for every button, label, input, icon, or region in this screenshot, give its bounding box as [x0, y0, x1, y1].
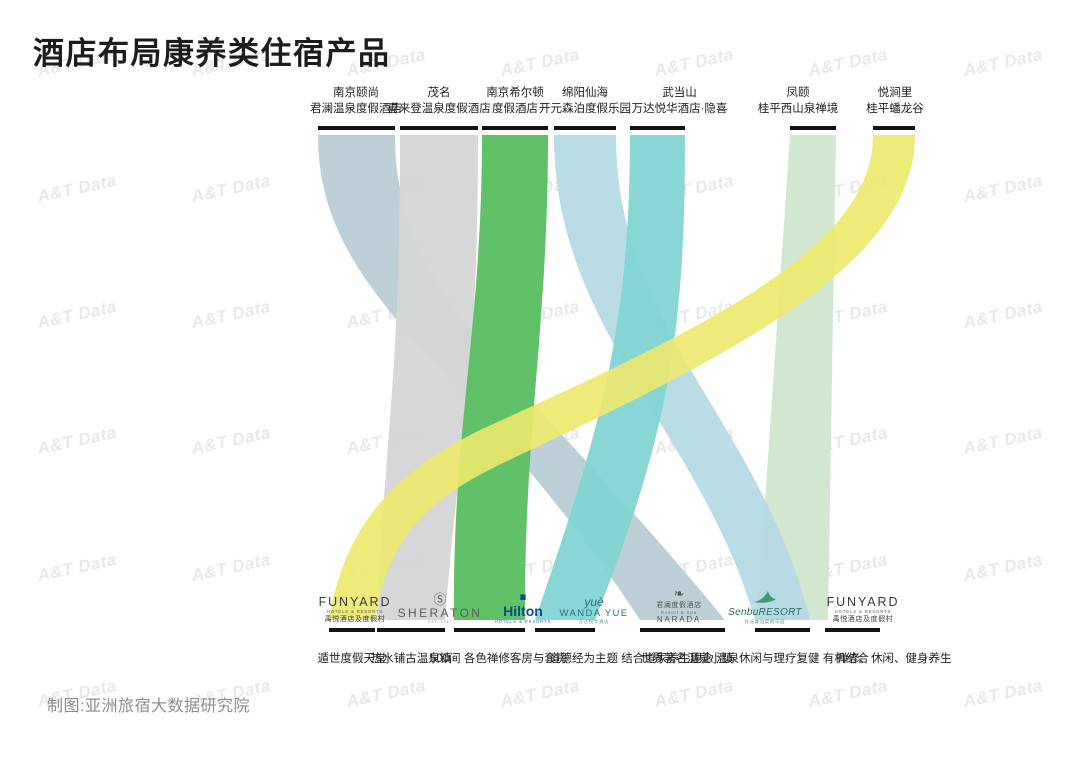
logo-senbu-resort: SenbuRESORT 开元森泊度假乐园 — [724, 578, 806, 624]
logo-name: Hilton — [503, 604, 543, 619]
logo-subtitle: HOTELS & RESORTS — [835, 609, 891, 614]
narada-leaf-icon: ❧ — [674, 587, 685, 600]
top-node-bar[interactable] — [873, 126, 915, 130]
top-node-bar[interactable] — [482, 126, 548, 130]
top-node-bar[interactable] — [318, 126, 395, 130]
top-node-property: 万达悦华酒店·隐喜 — [612, 102, 747, 118]
top-node-brand: 悦涧里 — [850, 86, 940, 102]
logo-name: FUNYARD — [827, 596, 900, 609]
credit-line: 制图:亚洲旅宿大数据研究院 — [47, 692, 250, 716]
logo-subtitle: 开元森泊度假乐园 — [745, 619, 786, 624]
top-node-bar[interactable] — [630, 126, 685, 130]
bottom-node-bar[interactable] — [535, 628, 595, 632]
logo-subtitle: HOTELS & RESORTS — [495, 619, 551, 624]
top-node-label-6[interactable]: 凤颐 桂平西山泉禅境 — [748, 86, 848, 117]
logo-sheraton: Ⓢ SHERATON EST. 1937 — [394, 578, 486, 624]
bottom-node-bar[interactable] — [825, 628, 880, 632]
bottom-node-bar[interactable] — [755, 628, 810, 632]
logo-chinese-name: 禹悦酒店及度假村 — [325, 615, 386, 624]
logo-established: EST. 1937 — [428, 620, 452, 624]
sheraton-s-icon: Ⓢ — [433, 593, 446, 606]
logo-wanda-yue: yuè WANDA YUE 万达悦华酒店 — [556, 578, 632, 624]
bottom-feature-line1: 500间 — [430, 653, 461, 665]
logo-name: SHERATON — [398, 607, 483, 620]
logo-name: WANDA YUE — [559, 609, 628, 619]
page-title: 酒店布局康养类住宿产品 — [33, 28, 391, 73]
logo-name: NARADA — [657, 616, 701, 624]
bottom-node-bar[interactable] — [640, 628, 725, 632]
top-node-label-5[interactable]: 武当山 万达悦华酒店·隐喜 — [612, 86, 747, 117]
senbu-bird-glyph — [752, 589, 778, 605]
logo-name: FUNYARD — [319, 596, 392, 609]
top-node-bar[interactable] — [554, 126, 616, 130]
bottom-node-label-7[interactable]: 禅修、休闲、健身养生 — [824, 652, 964, 668]
top-node-brand: 武当山 — [612, 86, 747, 102]
logo-chinese-name: 禹悦酒店及度假村 — [833, 615, 894, 624]
yue-script-icon: yuè — [584, 595, 603, 609]
bottom-feature-line1: 道德经为主题 — [549, 653, 618, 665]
top-node-bar[interactable] — [790, 126, 836, 130]
bottom-node-bar[interactable] — [454, 628, 525, 632]
bottom-node-label-3[interactable]: 500间 各色禅修客房与套房 — [430, 652, 550, 668]
top-node-brand: 凤颐 — [748, 86, 848, 102]
logo-hilton: ⏹ Hilton HOTELS & RESORTS — [490, 578, 556, 624]
bottom-node-bar[interactable] — [329, 628, 375, 632]
logo-funyard-right: FUNYARD HOTELS & RESORTS 禹悦酒店及度假村 — [820, 578, 906, 624]
bottom-feature-line1: 温泉休闲与理疗复健 — [716, 653, 820, 665]
top-node-property: 桂平西山泉禅境 — [748, 102, 848, 118]
top-node-property: 桂平蟠龙谷 — [850, 102, 940, 118]
senbu-bird-icon — [752, 589, 778, 607]
logo-narada: ❧ 君澜度假酒店 Resort & Spa NARADA — [640, 578, 718, 624]
hilton-crest-icon: ⏹ — [520, 590, 527, 603]
top-node-label-7[interactable]: 悦涧里 桂平蟠龙谷 — [850, 86, 940, 117]
top-node-bar[interactable] — [400, 126, 478, 130]
logo-subtitle: 万达悦华酒店 — [579, 619, 610, 624]
bottom-node-bar[interactable] — [377, 628, 445, 632]
bottom-feature-line1: 禅修、休闲、健身养生 — [837, 653, 952, 665]
logo-chinese-name: 君澜度假酒店 — [656, 601, 702, 610]
logo-name: SenbuRESORT — [728, 608, 802, 619]
logo-funyard-left: FUNYARD HOTELS & RESORTS 禹悦酒店及度假村 — [312, 578, 398, 624]
logo-subtitle: HOTELS & RESORTS — [327, 609, 383, 614]
logo-subtitle: Resort & Spa — [661, 610, 697, 615]
